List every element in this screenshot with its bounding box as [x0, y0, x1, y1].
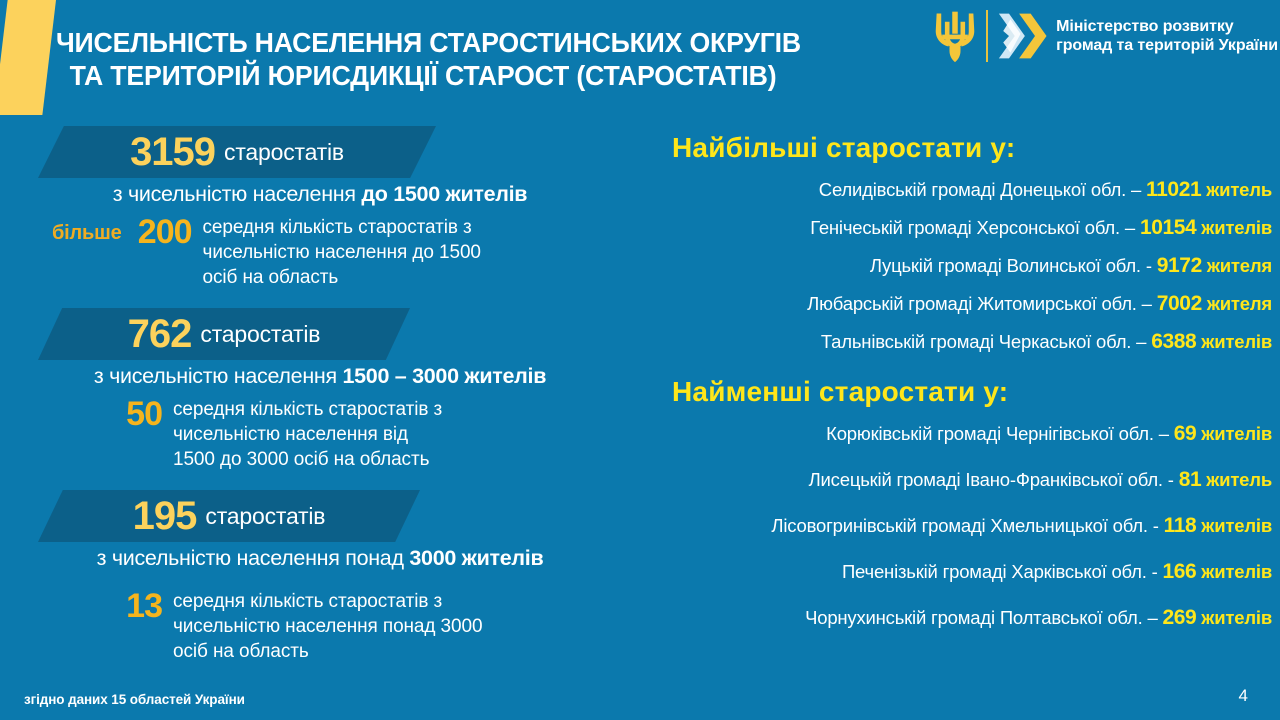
stat-average-text-line3: осіб на область	[203, 265, 481, 290]
list-item-unit: жителів	[1201, 561, 1272, 582]
list-item-place: Любарській громаді Житомирської обл. –	[807, 293, 1152, 314]
list-item-value: 11021	[1146, 178, 1201, 201]
rankings-column: Найбільші старостати у: Селидівській гро…	[672, 132, 1280, 644]
list-item-value: 81	[1179, 468, 1202, 491]
stat-average-row: 13 середня кількість старостатів з чисел…	[0, 589, 660, 664]
stat-count-label: старостатів	[205, 503, 325, 530]
ministry-chevron-icon	[996, 9, 1048, 63]
statistics-column: 3159 старостатів з чисельністю населення…	[0, 126, 660, 672]
stat-block: 3159 старостатів з чисельністю населення…	[0, 126, 660, 290]
stat-average-value: 200	[130, 215, 192, 249]
list-item-unit: житель	[1206, 179, 1272, 200]
page-title-line2: ТА ТЕРИТОРІЙ ЮРИСДИКЦІЇ СТАРОСТ (СТАРОСТ…	[56, 59, 890, 92]
list-item-unit: жителів	[1201, 331, 1272, 352]
smallest-list: Корюківській громаді Чернігівської обл. …	[672, 422, 1280, 630]
stat-average-text: середня кількість старостатів з чисельні…	[203, 215, 481, 290]
list-item: Генічеській громаді Херсонської обл. – 1…	[672, 216, 1280, 240]
list-item-unit: жителів	[1201, 423, 1272, 444]
list-item-place: Корюківській громаді Чернігівської обл. …	[826, 423, 1169, 444]
list-item-place: Селидівській громаді Донецької обл. –	[819, 179, 1141, 200]
slide-root: ЧИСЕЛЬНІСТЬ НАСЕЛЕННЯ СТАРОСТИНСЬКИХ ОКР…	[0, 0, 1280, 720]
stat-description-prefix: з чисельністю населення понад	[97, 546, 410, 570]
stat-average-row: більше 200 середня кількість старостатів…	[0, 215, 660, 290]
stat-average-text-line2: чисельністю населення від	[173, 422, 442, 447]
page-title-line1: ЧИСЕЛЬНІСТЬ НАСЕЛЕННЯ СТАРОСТИНСЬКИХ ОКР…	[56, 26, 890, 59]
list-item-value: 6388	[1151, 330, 1196, 353]
list-item-place: Луцькій громаді Волинської обл. -	[870, 255, 1152, 276]
stat-average-row: 50 середня кількість старостатів з чисел…	[0, 397, 660, 472]
list-item-place: Чорнухинській громаді Полтавської обл. –	[805, 607, 1157, 628]
list-item-unit: жителя	[1207, 255, 1272, 276]
list-item-unit: жителів	[1201, 217, 1272, 238]
stat-description-bold: до 1500 жителів	[361, 182, 527, 206]
stat-description-prefix: з чисельністю населення	[94, 364, 343, 388]
stat-average-value: 13	[118, 589, 162, 623]
ministry-name: Міністерство розвитку громад та територі…	[1056, 17, 1278, 55]
stat-banner: 762 старостатів	[38, 308, 410, 360]
stat-average-text-line2: чисельністю населення понад 3000	[173, 614, 482, 639]
stat-count-label: старостатів	[224, 139, 344, 166]
list-item: Лисецькій громаді Івано-Франківської обл…	[672, 468, 1280, 492]
stat-description: з чисельністю населення понад 3000 жител…	[0, 546, 640, 571]
stat-description: з чисельністю населення до 1500 жителів	[0, 182, 640, 207]
page-number: 4	[1239, 686, 1248, 706]
stat-average-value: 50	[116, 397, 162, 431]
list-item: Тальнівській громаді Черкаської обл. – 6…	[672, 330, 1280, 354]
list-item-place: Генічеській громаді Херсонської обл. –	[810, 217, 1135, 238]
stat-banner: 3159 старостатів	[38, 126, 436, 178]
stat-average-text-line2: чисельністю населення до 1500	[203, 240, 481, 265]
list-item-unit: жителя	[1207, 293, 1272, 314]
stat-average-prefix: більше	[52, 222, 122, 245]
stat-block: 195 старостатів з чисельністю населення …	[0, 490, 660, 664]
stat-banner: 195 старостатів	[38, 490, 420, 542]
list-item: Печенізькій громаді Харківської обл. - 1…	[672, 560, 1280, 584]
page-title: ЧИСЕЛЬНІСТЬ НАСЕЛЕННЯ СТАРОСТИНСЬКИХ ОКР…	[56, 26, 890, 92]
list-item: Лісовогринівській громаді Хмельницької о…	[672, 514, 1280, 538]
ministry-logo: Міністерство розвитку громад та територі…	[932, 8, 1278, 64]
stat-block: 762 старостатів з чисельністю населення …	[0, 308, 660, 472]
stat-average-text-line3: 1500 до 3000 осіб на область	[173, 447, 442, 472]
stat-count: 195	[133, 496, 197, 536]
list-item: Корюківській громаді Чернігівської обл. …	[672, 422, 1280, 446]
stat-description-prefix: з чисельністю населення	[113, 182, 362, 206]
stat-count: 3159	[130, 132, 215, 172]
stat-count-label: старостатів	[200, 321, 320, 348]
stat-average-text: середня кількість старостатів з чисельні…	[173, 397, 442, 472]
ukraine-trident-icon	[932, 8, 978, 64]
stat-description: з чисельністю населення 1500 – 3000 жите…	[0, 364, 640, 389]
list-item-value: 9172	[1157, 254, 1202, 277]
list-item-unit: жителів	[1201, 607, 1272, 628]
list-item-value: 10154	[1140, 216, 1196, 239]
footer-source-note: згідно даних 15 областей України	[24, 692, 245, 707]
ministry-name-line2: громад та територій України	[1056, 36, 1278, 55]
stat-average-text-line1: середня кількість старостатів з	[173, 589, 482, 614]
logo-divider	[986, 10, 988, 62]
stat-description-bold: 1500 – 3000 жителів	[342, 364, 546, 388]
list-item-value: 166	[1163, 560, 1197, 583]
list-item: Любарській громаді Житомирської обл. – 7…	[672, 292, 1280, 316]
largest-heading: Найбільші старостати у:	[672, 132, 1280, 164]
list-item-value: 7002	[1157, 292, 1202, 315]
list-item-value: 269	[1163, 606, 1197, 629]
list-item-unit: жителів	[1201, 515, 1272, 536]
stat-average-text-line3: осіб на область	[173, 639, 482, 664]
stat-count: 762	[128, 314, 192, 354]
ministry-name-line1: Міністерство розвитку	[1056, 17, 1278, 36]
list-item-value: 69	[1174, 422, 1197, 445]
smallest-heading: Найменші старостати у:	[672, 376, 1280, 408]
decorative-yellow-tag	[0, 0, 56, 115]
largest-list: Селидівській громаді Донецької обл. – 11…	[672, 178, 1280, 354]
list-item: Луцькій громаді Волинської обл. - 9172 ж…	[672, 254, 1280, 278]
list-item-place: Тальнівській громаді Черкаської обл. –	[821, 331, 1146, 352]
list-item-unit: житель	[1206, 469, 1272, 490]
stat-description-bold: 3000 жителів	[409, 546, 543, 570]
stat-average-text-line1: середня кількість старостатів з	[173, 397, 442, 422]
list-item-value: 118	[1164, 514, 1197, 537]
stat-average-text-line1: середня кількість старостатів з	[203, 215, 481, 240]
list-item-place: Лисецькій громаді Івано-Франківської обл…	[809, 469, 1174, 490]
stat-average-text: середня кількість старостатів з чисельні…	[173, 589, 482, 664]
list-item-place: Печенізькій громаді Харківської обл. -	[842, 561, 1158, 582]
list-item: Селидівській громаді Донецької обл. – 11…	[672, 178, 1280, 202]
list-item-place: Лісовогринівській громаді Хмельницької о…	[771, 515, 1158, 536]
list-item: Чорнухинській громаді Полтавської обл. –…	[672, 606, 1280, 630]
